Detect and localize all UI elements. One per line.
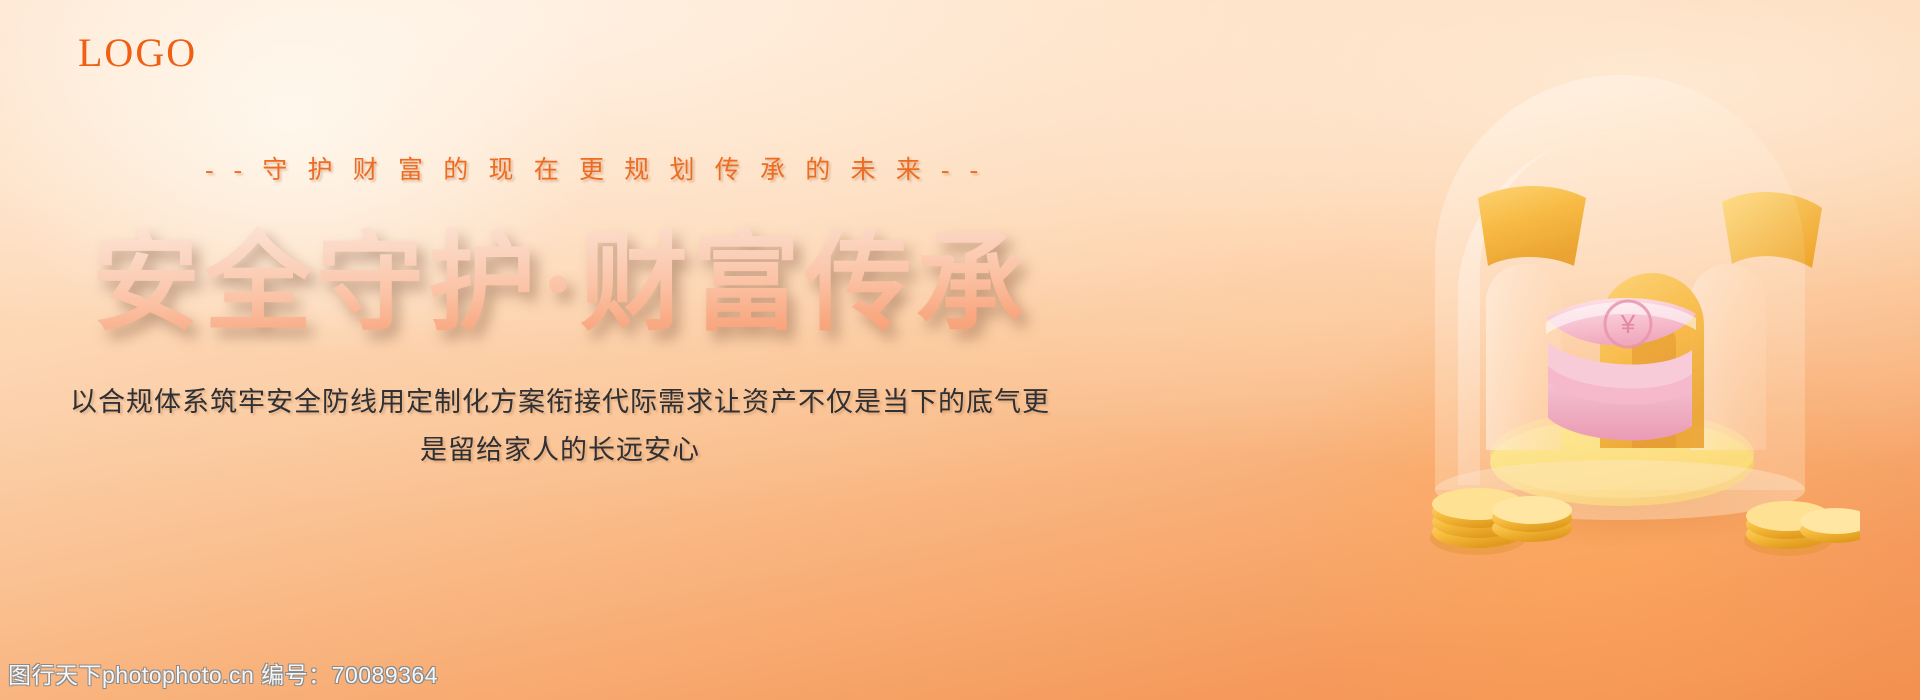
brand-logo[interactable]: LOGO [78,33,197,73]
hero-title-wrapper: 安全守护·财富传承 安全守护·财富传承 [0,228,1120,342]
hero-title-fill: 安全守护·财富传承 [92,225,1028,344]
gold-coin-stack-right [1744,501,1860,556]
glass-dome-front-sheen [1435,75,1805,490]
footer-watermark: 图行天下photophoto.cn 编号：70089364 [8,656,438,690]
promo-banner: LOGO - - 守 护 财 富 的 现 在 更 规 划 传 承 的 未 来 -… [0,0,1920,700]
hero-body-line-2: 是留给家人的长远安心 [0,426,1120,474]
hero-body: 以合规体系筑牢安全防线用定制化方案衔接代际需求让资产不仅是当下的底气更 是留给家… [0,378,1120,474]
gold-coin-stack-left [1430,488,1572,555]
glass-dome-wealth-illustration: ¥ [1360,70,1860,590]
hero-subtitle: - - 守 护 财 富 的 现 在 更 规 划 传 承 的 未 来 - - [0,150,1190,186]
hero-body-line-1: 以合规体系筑牢安全防线用定制化方案衔接代际需求让资产不仅是当下的底气更 [70,387,1050,417]
hero-title: 安全守护·财富传承 安全守护·财富传承 [92,228,1028,342]
